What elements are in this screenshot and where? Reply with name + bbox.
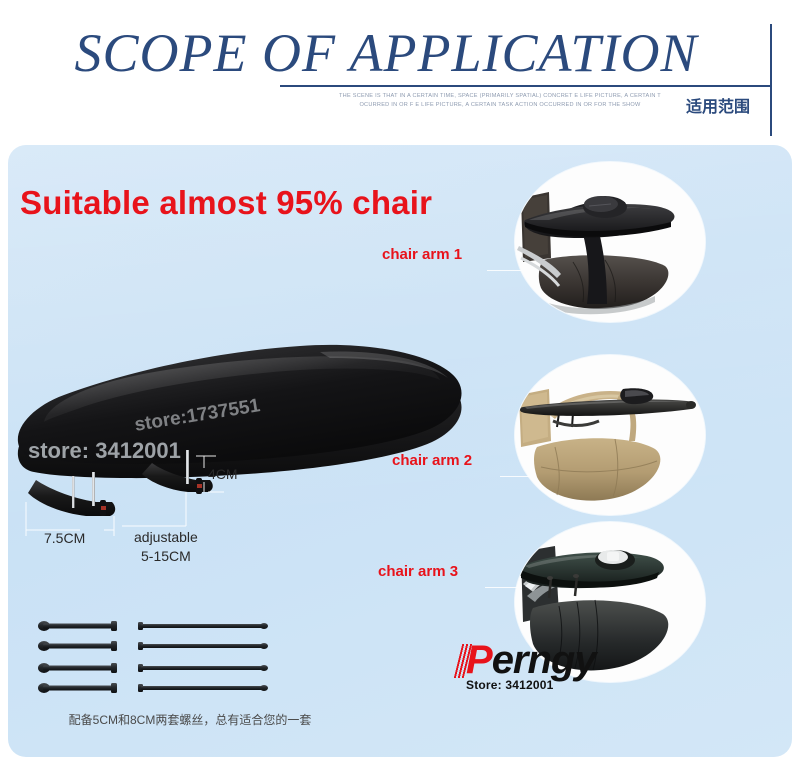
header-divider bbox=[280, 85, 772, 87]
photo-chair-arm-2 bbox=[515, 355, 705, 515]
photo-chair-arm-1 bbox=[515, 162, 705, 322]
product-clamp-left bbox=[28, 480, 115, 516]
headline: Suitable almost 95% chair bbox=[20, 184, 432, 222]
header-subtitle: THE SCENE IS THAT IN A CERTAIN TIME, SPA… bbox=[290, 92, 710, 110]
brand-name-rest: erngy bbox=[492, 638, 596, 682]
callout-chair-arm-3: chair arm 3 bbox=[378, 563, 458, 580]
header-vertical-divider bbox=[770, 24, 772, 136]
product-infographic: SCOPE OF APPLICATION THE SCENE IS THAT I… bbox=[0, 0, 800, 770]
page-title: SCOPE OF APPLICATION bbox=[0, 22, 772, 84]
dimension-adjustable-range: 5-15CM bbox=[134, 547, 198, 566]
screws-illustration bbox=[36, 612, 316, 704]
header-subtitle-line2: OCURRED IN OR F E LIFE PICTURE, A CERTAI… bbox=[290, 101, 710, 110]
header: SCOPE OF APPLICATION THE SCENE IS THAT I… bbox=[0, 0, 800, 145]
header-subtitle-line1: THE SCENE IS THAT IN A CERTAIN TIME, SPA… bbox=[339, 93, 661, 99]
product-illustration bbox=[0, 330, 470, 560]
brand-logo: Perngy Store: 3412001 bbox=[466, 640, 596, 692]
header-chinese-label: 适用范围 bbox=[686, 93, 750, 117]
brand-name: Perngy bbox=[466, 640, 596, 680]
callout-chair-arm-2: chair arm 2 bbox=[392, 452, 472, 469]
dimension-clamp-width: 7.5CM bbox=[44, 530, 85, 546]
callout-chair-arm-1: chair arm 1 bbox=[382, 246, 462, 263]
screw-long-group bbox=[138, 622, 268, 692]
screws-note: 配备5CM和8CM两套螺丝，总有适合您的一套 bbox=[40, 711, 340, 728]
support-rod-left-2 bbox=[72, 476, 75, 508]
screw-short-group bbox=[38, 621, 117, 693]
dimension-adjustable-label: adjustable bbox=[134, 528, 198, 547]
dimension-thickness: 4CM bbox=[208, 466, 238, 482]
support-rod-left bbox=[92, 472, 95, 506]
dimension-adjustable: adjustable 5-15CM bbox=[134, 528, 198, 566]
support-rod-right bbox=[186, 450, 189, 484]
